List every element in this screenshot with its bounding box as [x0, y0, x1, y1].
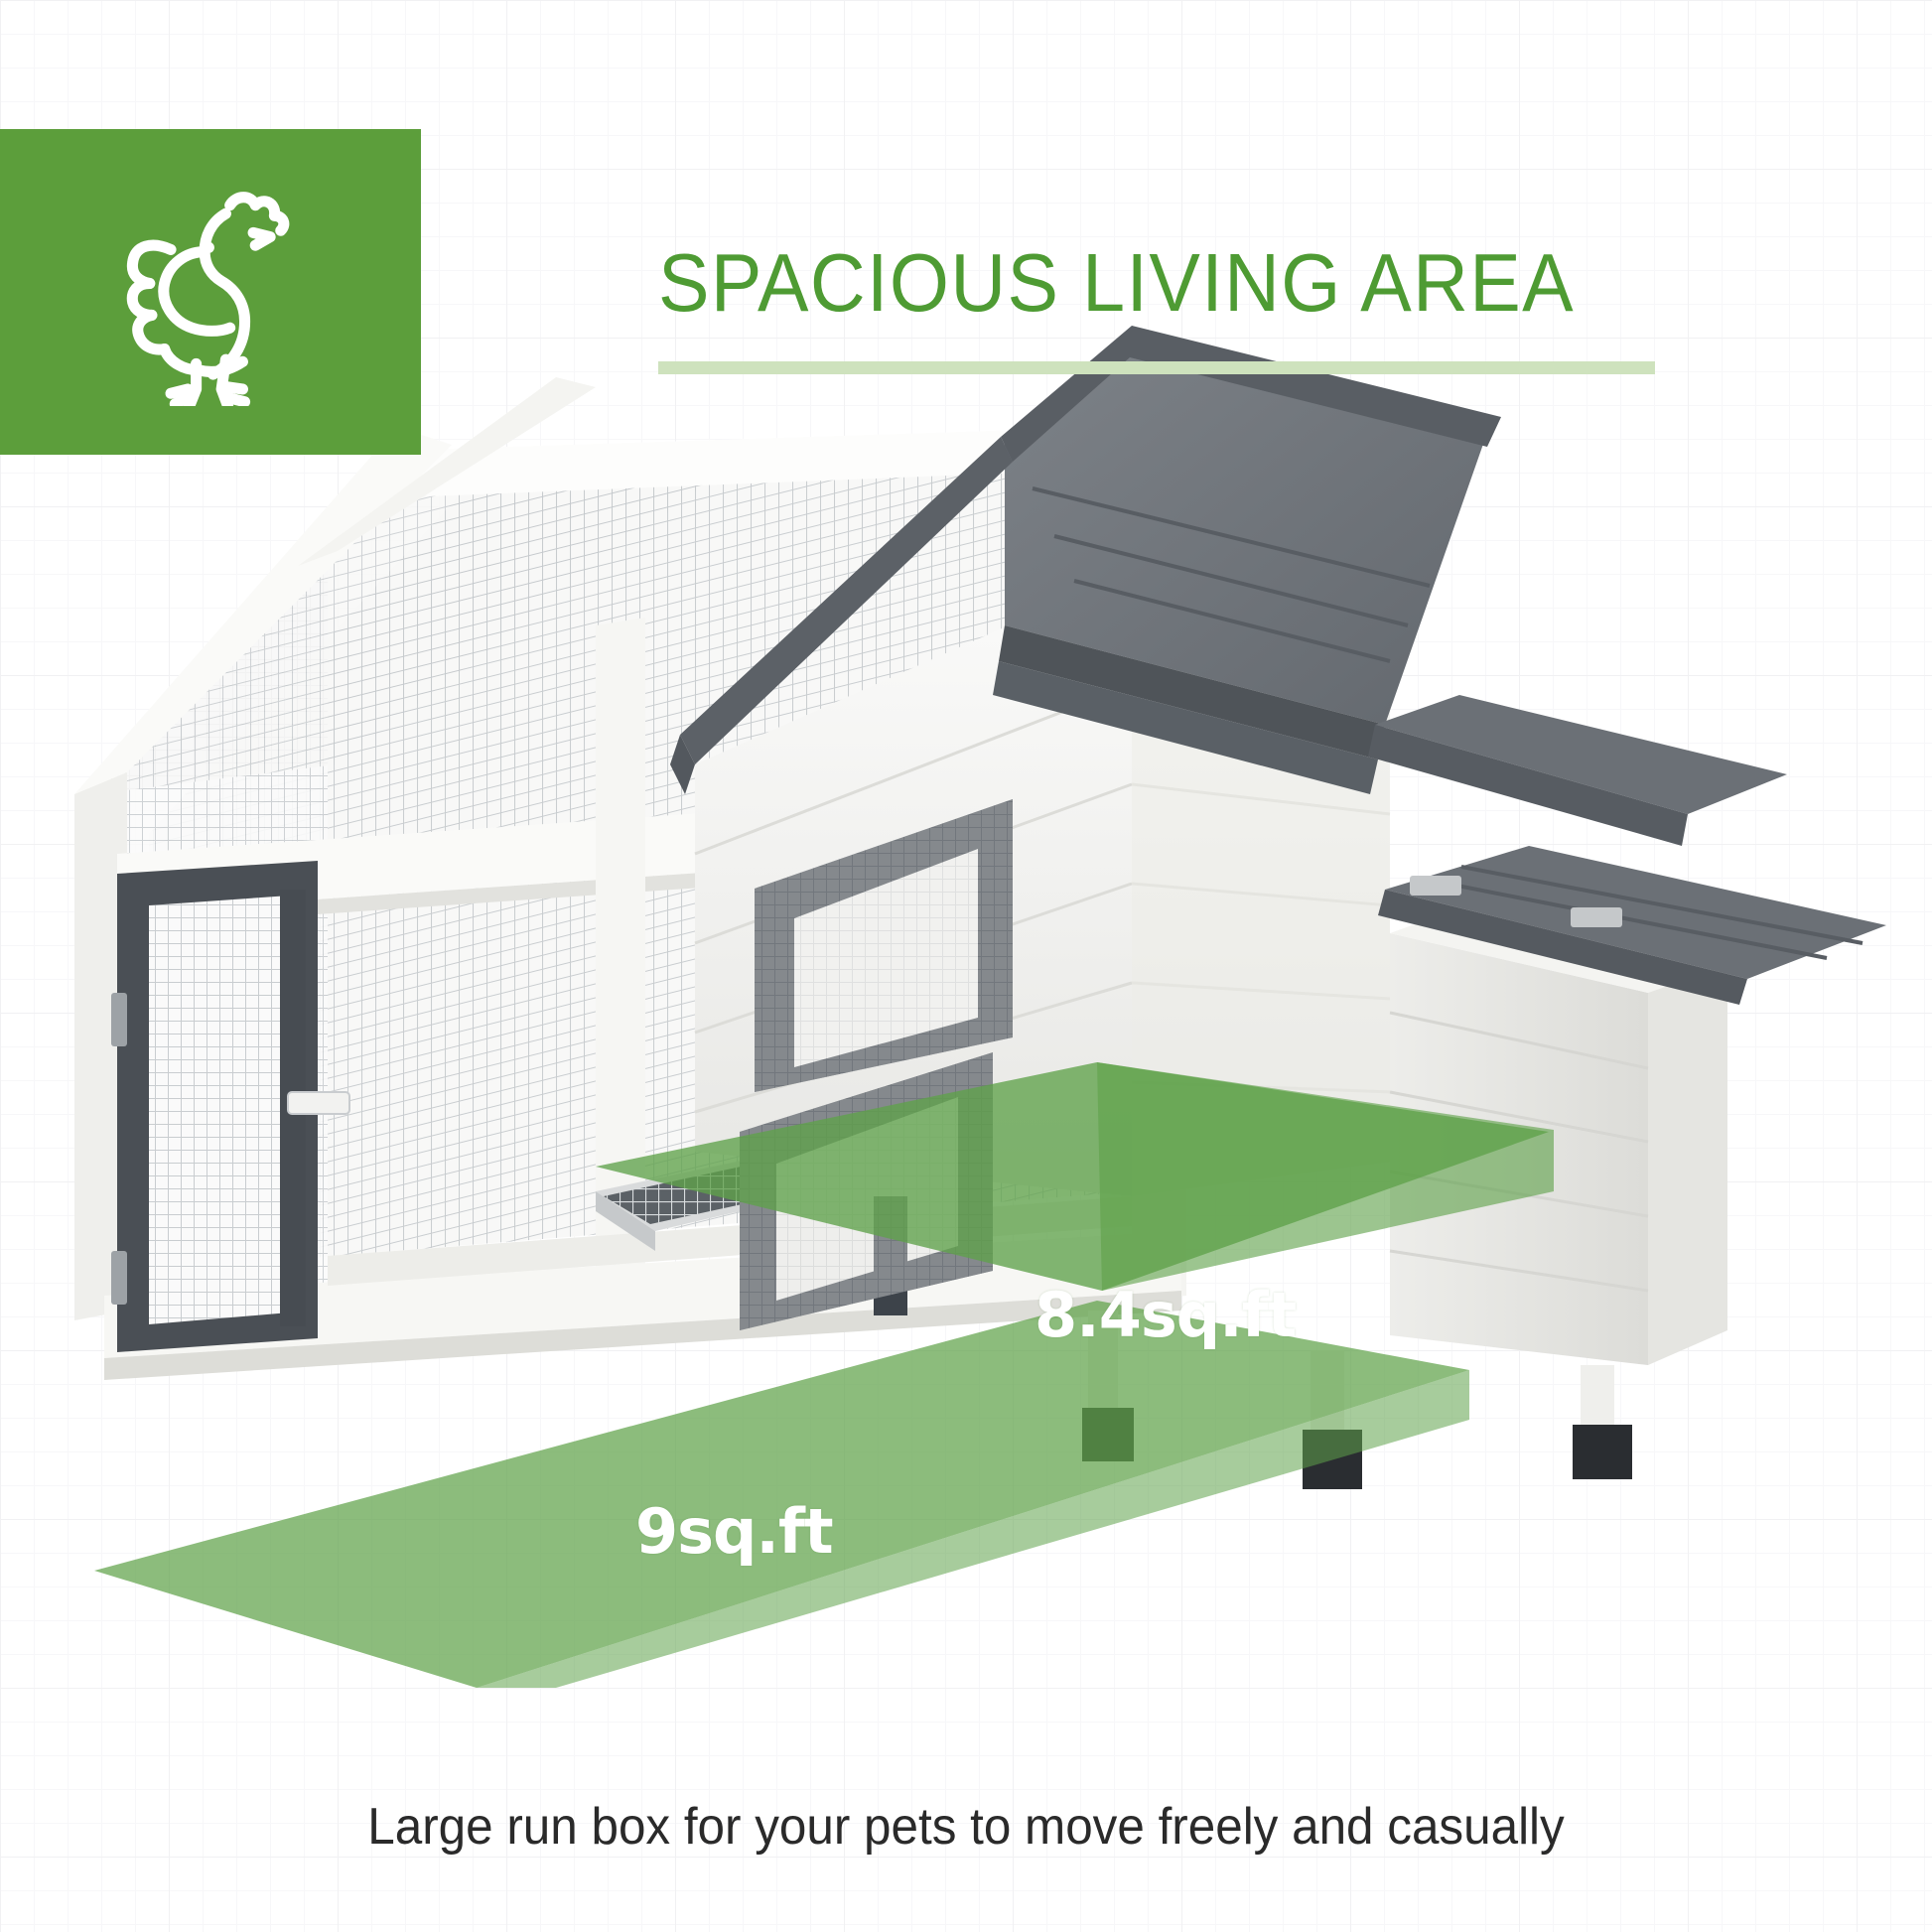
chicken-badge: [0, 129, 421, 455]
rubber-foot: [1573, 1425, 1632, 1479]
chicken-icon: [104, 178, 318, 406]
title-divider: [658, 361, 1655, 374]
door-latch: [288, 1092, 349, 1114]
area-label-lower: 9sq.ft: [635, 1495, 833, 1568]
nesting-box: [1378, 846, 1886, 1365]
nest-upper-roof: [1368, 695, 1787, 846]
door-hinge: [111, 1251, 127, 1305]
page-title: SPACIOUS LIVING AREA: [658, 241, 1590, 324]
lid-hinge: [1410, 876, 1461, 896]
lid-hinge: [1571, 907, 1622, 927]
caption-text: Large run box for your pets to move free…: [49, 1799, 1884, 1856]
product-image: [0, 298, 1932, 1688]
area-label-upper: 8.4sq.ft: [1035, 1279, 1296, 1351]
door-hinge: [111, 993, 127, 1046]
run-door: [111, 861, 349, 1352]
